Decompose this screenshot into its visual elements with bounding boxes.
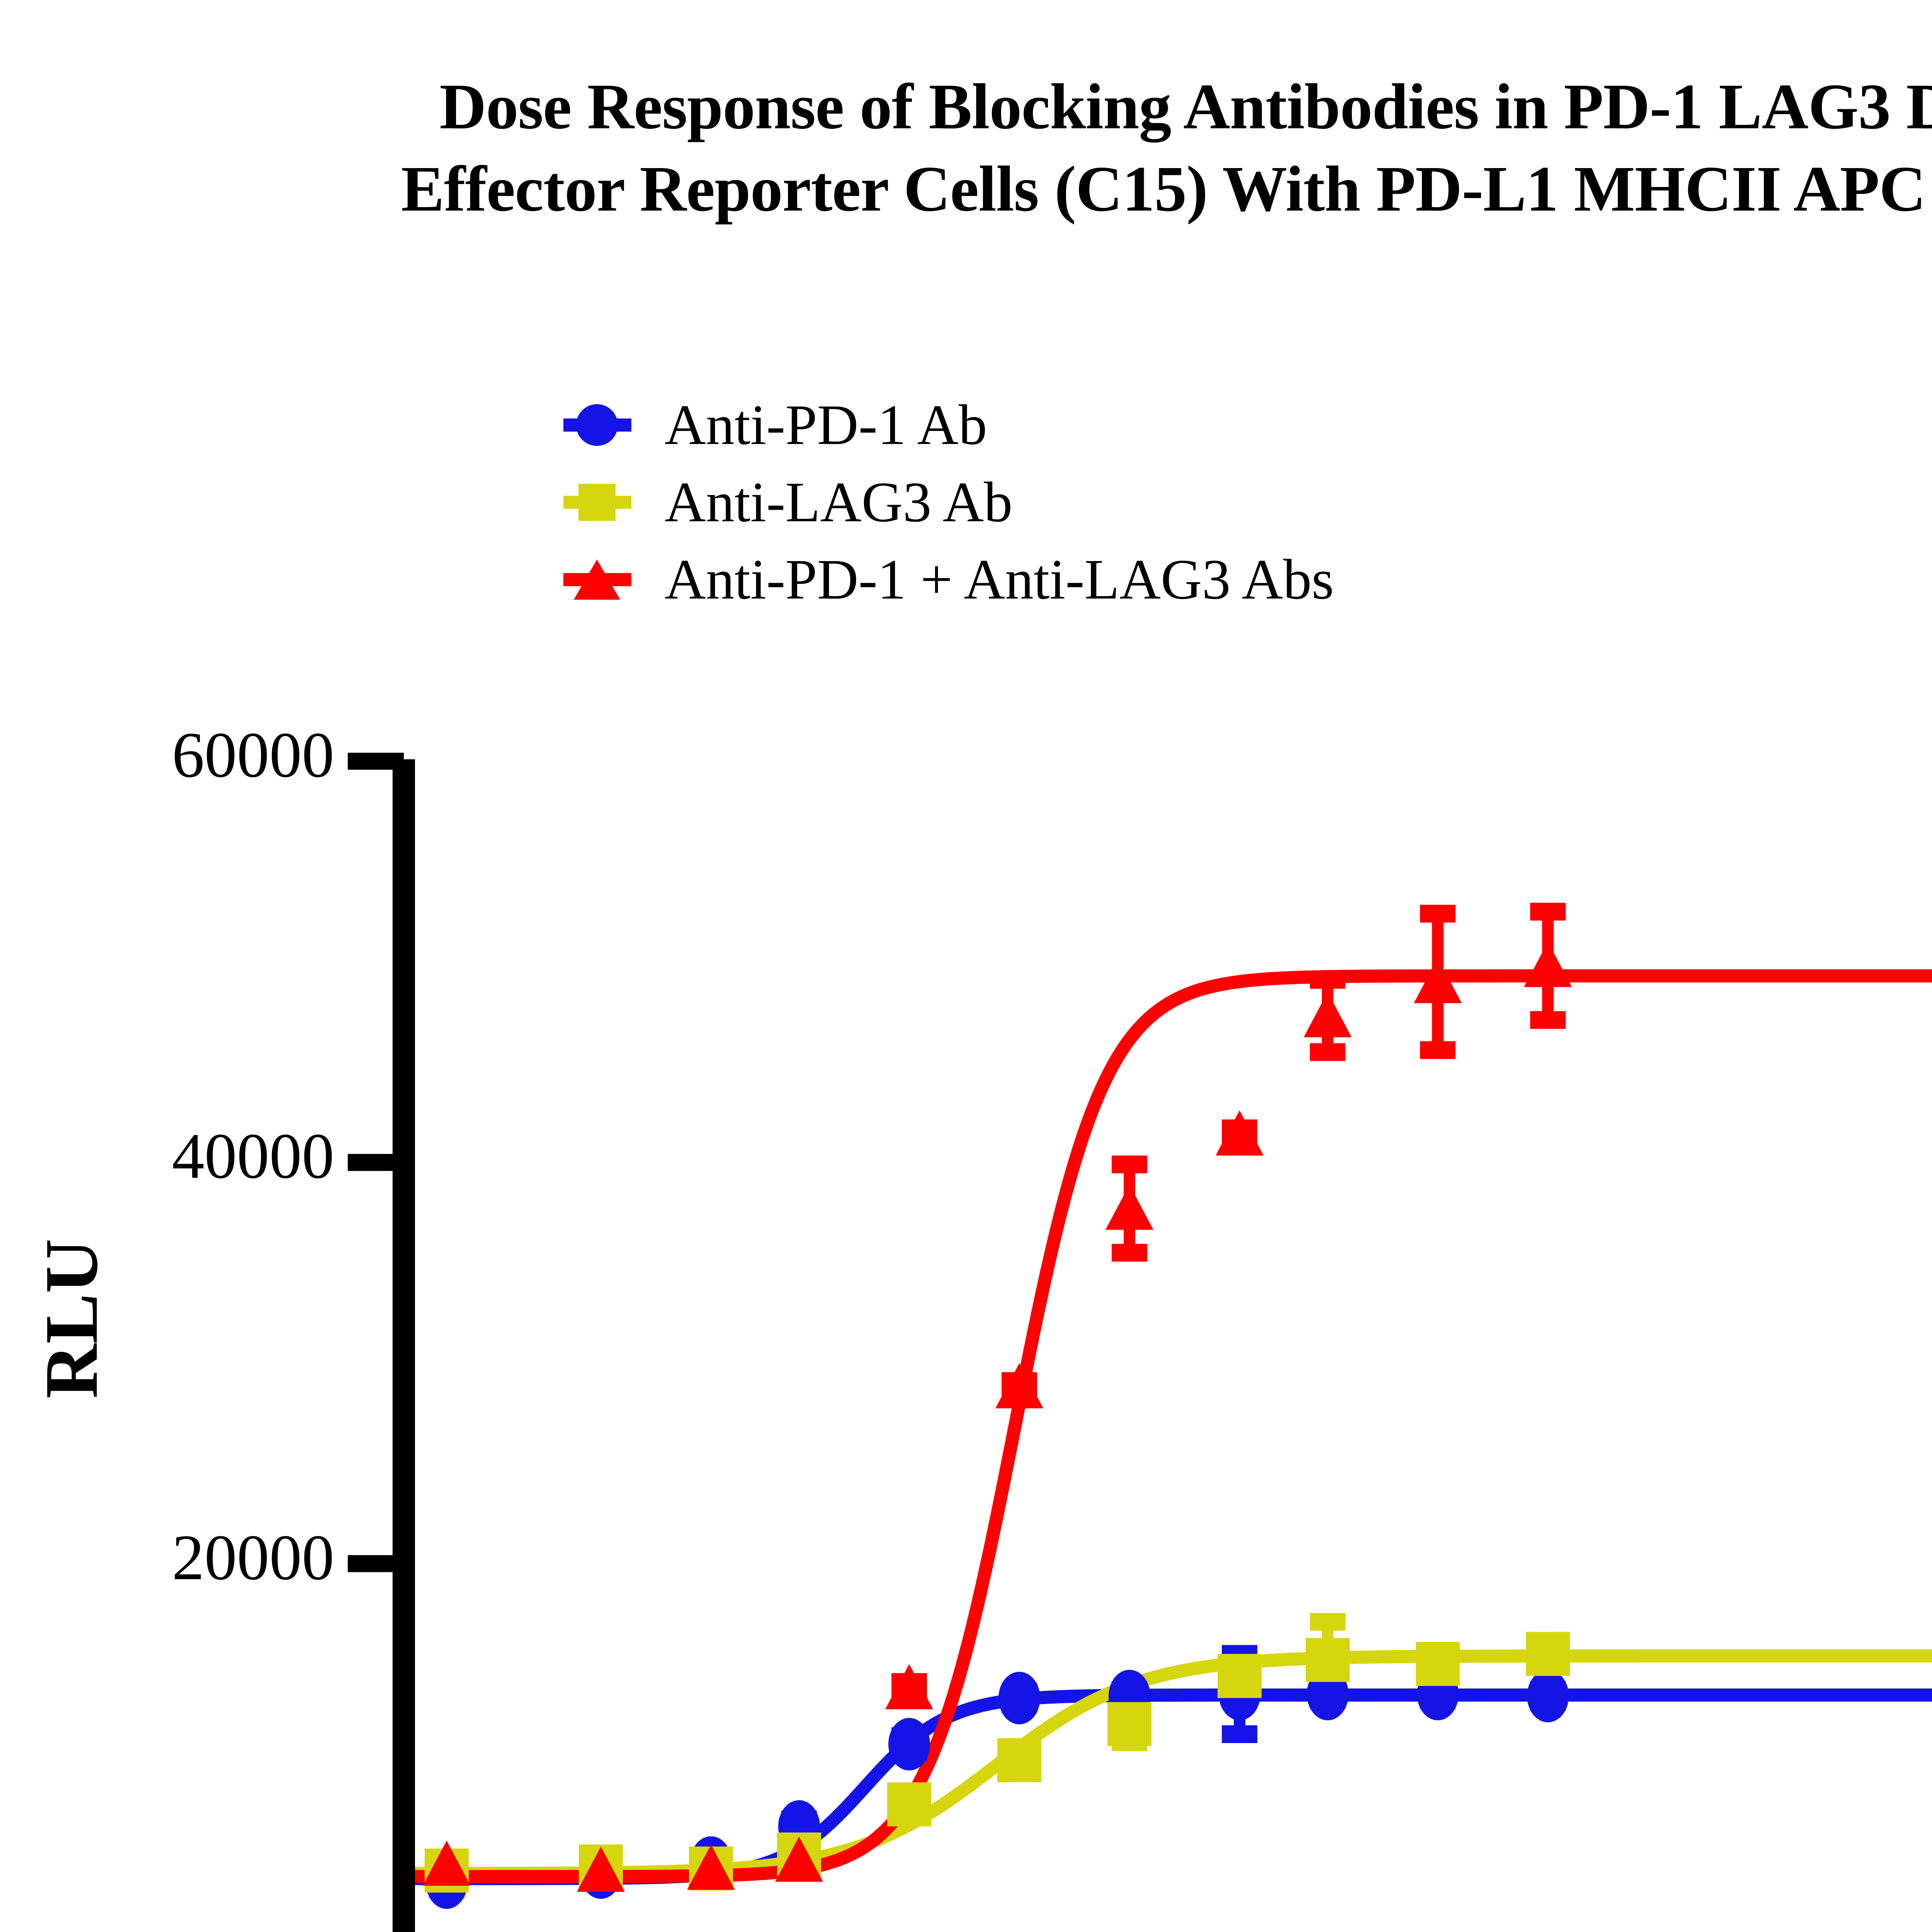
y-tick-label: 20000 bbox=[0, 1520, 334, 1595]
data-point-square bbox=[1306, 1638, 1350, 1682]
curve-2 bbox=[405, 976, 1932, 1877]
y-axis-label: RLU bbox=[28, 1184, 115, 1454]
data-point-circle bbox=[998, 1672, 1040, 1725]
data-point-square bbox=[1107, 1702, 1151, 1746]
data-point-square bbox=[997, 1738, 1041, 1782]
square-icon bbox=[578, 484, 616, 521]
circle-icon bbox=[576, 404, 618, 446]
data-markers bbox=[423, 942, 1572, 1909]
data-point-triangle bbox=[1524, 942, 1572, 987]
data-point-circle bbox=[888, 1718, 930, 1770]
y-tick-label: 0 bbox=[0, 1922, 334, 1932]
data-point-square bbox=[1416, 1642, 1460, 1686]
data-point-triangle bbox=[1105, 1185, 1153, 1230]
data-point-square bbox=[1526, 1632, 1570, 1676]
fitted-curves bbox=[405, 976, 1932, 1879]
axis-lines bbox=[393, 759, 1932, 1932]
data-point-triangle bbox=[1304, 992, 1352, 1037]
figure-root: Dose Response of Blocking Antibodies in … bbox=[0, 0, 1932, 1932]
data-point-square bbox=[1218, 1654, 1262, 1698]
axis-ticks bbox=[348, 761, 1548, 1932]
plot-area bbox=[0, 0, 1932, 1932]
data-point-square bbox=[887, 1782, 931, 1827]
y-tick-label: 40000 bbox=[0, 1119, 334, 1194]
data-point-circle bbox=[1527, 1670, 1569, 1722]
y-tick-label: 60000 bbox=[0, 718, 334, 793]
triangle-icon bbox=[574, 560, 620, 600]
curve-0 bbox=[405, 1695, 1932, 1879]
